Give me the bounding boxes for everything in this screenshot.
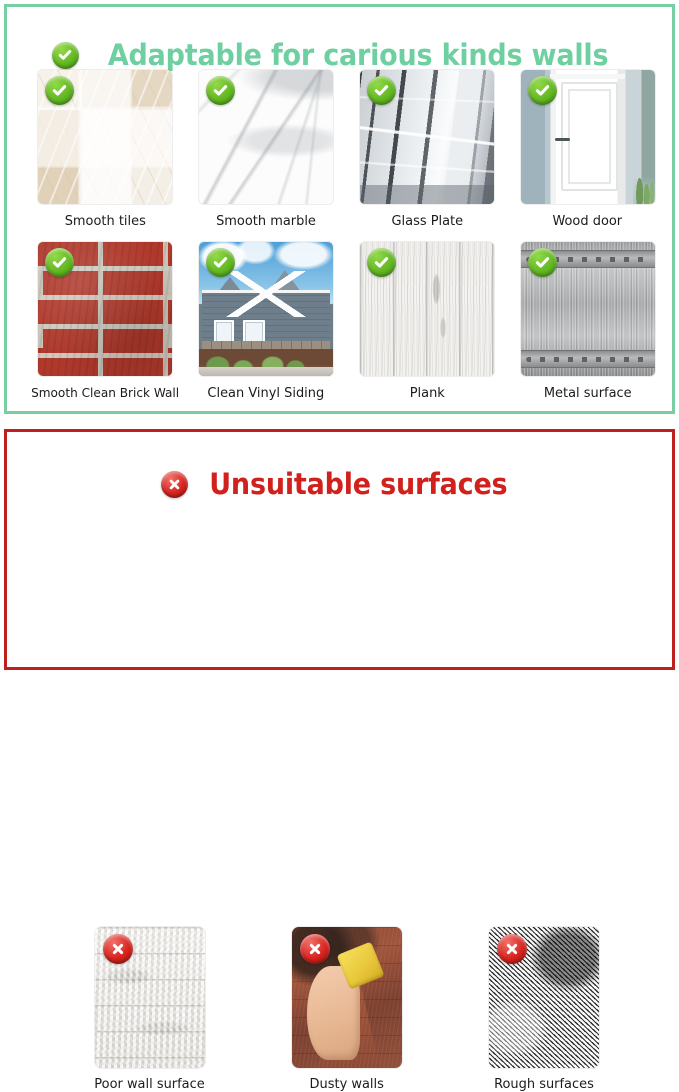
surface-label: Smooth Clean Brick Wall <box>31 385 179 400</box>
surface-thumbnail <box>521 70 655 204</box>
door-header-trim <box>550 74 625 79</box>
surface-label: Clean Vinyl Siding <box>208 385 325 401</box>
surface-thumbnail <box>199 242 333 376</box>
suitable-card-row-1: Smooth tiles Smooth marble <box>7 70 679 229</box>
suitable-section-title: Adaptable for carious kinds walls <box>108 38 609 72</box>
red-x-icon <box>161 471 188 498</box>
unsuitable-surfaces-panel: Unsuitable surfaces Poor wall surface <box>4 429 675 670</box>
unsuitable-card-row: Poor wall surface Dust <box>7 927 679 1092</box>
plant-decor <box>633 158 654 204</box>
surface-thumbnail <box>521 242 655 376</box>
green-check-icon <box>528 76 557 105</box>
unsuitable-section-title: Unsuitable surfaces <box>209 467 507 501</box>
surface-card[interactable]: Rough surfaces <box>469 927 619 1092</box>
surface-card[interactable]: Smooth tiles <box>32 70 178 229</box>
green-check-icon <box>206 76 235 105</box>
surface-thumbnail <box>38 242 172 376</box>
house-roofline <box>204 271 327 317</box>
surface-card[interactable]: Smooth marble <box>193 70 339 229</box>
surface-label: Glass Plate <box>391 213 463 229</box>
surface-label: Rough surfaces <box>494 1076 594 1092</box>
surface-card[interactable]: Smooth Clean Brick Wall <box>32 242 178 401</box>
surface-card[interactable]: Clean Vinyl Siding <box>193 242 339 401</box>
surface-card[interactable]: Plank <box>354 242 500 401</box>
unsuitable-section-header: Unsuitable surfaces <box>7 448 672 521</box>
surface-thumbnail <box>292 927 402 1068</box>
house-walkway <box>199 367 333 376</box>
green-check-icon <box>367 76 396 105</box>
surface-thumbnail <box>38 70 172 204</box>
surface-card[interactable]: Dusty walls <box>272 927 422 1092</box>
surface-label: Smooth marble <box>216 213 316 229</box>
infographic-page: Adaptable for carious kinds walls Smooth… <box>0 0 679 674</box>
surface-label: Metal surface <box>544 385 632 401</box>
surface-label: Smooth tiles <box>65 213 146 229</box>
suitable-surfaces-panel: Adaptable for carious kinds walls Smooth… <box>4 4 675 414</box>
green-check-icon <box>52 42 79 69</box>
green-check-icon <box>206 248 235 277</box>
surface-thumbnail <box>95 927 205 1068</box>
surface-label: Plank <box>409 385 444 401</box>
red-x-icon <box>300 934 330 964</box>
surface-thumbnail <box>489 927 599 1068</box>
surface-card[interactable]: Metal surface <box>515 242 661 401</box>
surface-label: Dusty walls <box>309 1076 383 1092</box>
green-check-icon <box>528 248 557 277</box>
surface-thumbnail <box>360 242 494 376</box>
surface-card[interactable]: Wood door <box>515 70 661 229</box>
red-x-icon <box>103 934 133 964</box>
surface-thumbnail <box>199 70 333 204</box>
suitable-card-row-2: Smooth Clean Brick Wall <box>7 242 679 401</box>
surface-card[interactable]: Poor wall surface <box>75 927 225 1092</box>
surface-label: Poor wall surface <box>94 1076 204 1092</box>
rivet-row-bottom <box>521 350 655 368</box>
surface-card[interactable]: Glass Plate <box>354 70 500 229</box>
surface-thumbnail <box>360 70 494 204</box>
red-x-icon <box>497 934 527 964</box>
green-check-icon <box>367 248 396 277</box>
surface-label: Wood door <box>553 213 623 229</box>
